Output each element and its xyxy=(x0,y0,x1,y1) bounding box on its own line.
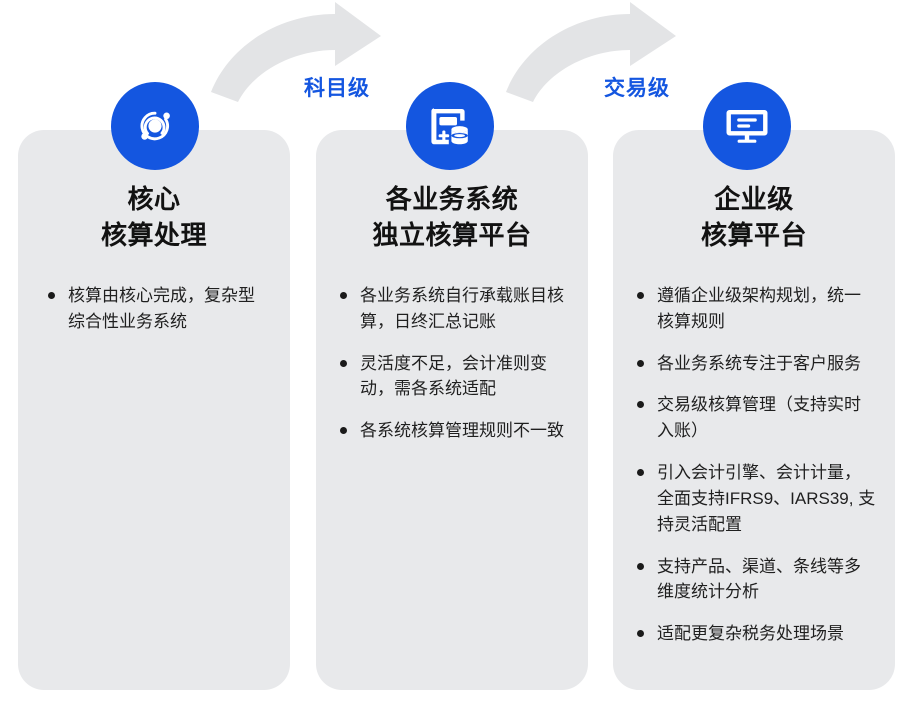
card-title-line: 核算平台 xyxy=(613,218,895,254)
bullet-dot-icon xyxy=(48,292,55,299)
card-title-line: 核算处理 xyxy=(18,218,290,254)
card-title-line: 独立核算平台 xyxy=(316,218,588,254)
stage-label-subject-level: 科目级 xyxy=(300,70,374,104)
monitor-icon xyxy=(703,82,791,170)
orbit-icon xyxy=(111,82,199,170)
list-item: 各系统核算管理规则不一致 xyxy=(340,418,568,444)
list-item: 各业务系统自行承载账目核算，日终汇总记账 xyxy=(340,283,568,335)
card-title-independent: 各业务系统 独立核算平台 xyxy=(316,182,588,254)
card-title-line: 各业务系统 xyxy=(316,182,588,218)
bullet-list-enterprise: 遵循企业级架构规划，统一核算规则 各业务系统专注于客户服务 交易级核算管理（支持… xyxy=(637,283,877,647)
diagram-canvas: 科目级 交易级 核心 核算处理 核算由核心完成，复杂型综合性业务系统 xyxy=(0,0,900,707)
bullet-list-independent: 各业务系统自行承载账目核算，日终汇总记账 灵活度不足，会计准则变动，需各系统适配… xyxy=(340,283,568,444)
bullet-text: 灵活度不足，会计准则变动，需各系统适配 xyxy=(360,354,547,399)
bullet-text: 交易级核算管理（支持实时入账） xyxy=(657,395,861,440)
bullet-dot-icon xyxy=(637,292,644,299)
list-item: 支持产品、渠道、条线等多维度统计分析 xyxy=(637,554,877,606)
list-item: 遵循企业级架构规划，统一核算规则 xyxy=(637,283,877,335)
bullet-dot-icon xyxy=(340,360,347,367)
bullet-text: 引入会计引擎、会计计量，全面支持IFRS9、IARS39, 支持灵活配置 xyxy=(657,463,875,534)
stage-label-transaction-level: 交易级 xyxy=(600,70,674,104)
bullet-dot-icon xyxy=(637,563,644,570)
bullet-text: 各系统核算管理规则不一致 xyxy=(360,421,564,440)
bullet-text: 遵循企业级架构规划，统一核算规则 xyxy=(657,286,861,331)
list-item: 引入会计引擎、会计计量，全面支持IFRS9、IARS39, 支持灵活配置 xyxy=(637,460,877,537)
card-title-enterprise: 企业级 核算平台 xyxy=(613,182,895,254)
list-item: 适配更复杂税务处理场景 xyxy=(637,621,877,647)
bullet-list-core: 核算由核心完成，复杂型综合性业务系统 xyxy=(48,283,266,335)
card-title-line: 企业级 xyxy=(613,182,895,218)
bullet-dot-icon xyxy=(340,427,347,434)
bullet-dot-icon xyxy=(637,401,644,408)
bullet-text: 核算由核心完成，复杂型综合性业务系统 xyxy=(68,286,255,331)
list-item: 核算由核心完成，复杂型综合性业务系统 xyxy=(48,283,266,335)
card-title-core: 核心 核算处理 xyxy=(18,182,290,254)
bullet-text: 支持产品、渠道、条线等多维度统计分析 xyxy=(657,557,861,602)
bullet-dot-icon xyxy=(340,292,347,299)
bullet-dot-icon xyxy=(637,469,644,476)
list-item: 各业务系统专注于客户服务 xyxy=(637,351,877,377)
calculator-database-icon xyxy=(406,82,494,170)
card-title-line: 核心 xyxy=(18,182,290,218)
bullet-text: 各业务系统专注于客户服务 xyxy=(657,354,861,373)
list-item: 交易级核算管理（支持实时入账） xyxy=(637,392,877,444)
list-item: 灵活度不足，会计准则变动，需各系统适配 xyxy=(340,351,568,403)
bullet-dot-icon xyxy=(637,630,644,637)
bullet-text: 适配更复杂税务处理场景 xyxy=(657,624,844,643)
bullet-text: 各业务系统自行承载账目核算，日终汇总记账 xyxy=(360,286,564,331)
bullet-dot-icon xyxy=(637,360,644,367)
